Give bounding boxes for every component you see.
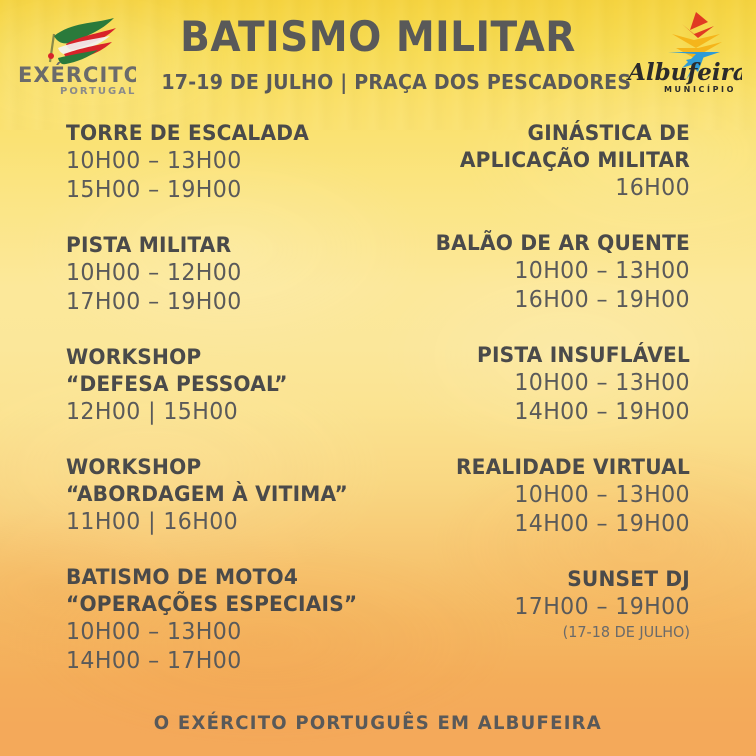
event-title: BATISMO MILITAR bbox=[166, 14, 590, 60]
event-name-line: BALÃO DE AR QUENTE bbox=[396, 230, 690, 257]
schedule-columns: TORRE DE ESCALADA 10H00 – 13H00 15H00 – … bbox=[0, 112, 756, 704]
event-name-line: “DEFESA PESSOAL” bbox=[66, 371, 360, 398]
schedule-column-left: TORRE DE ESCALADA 10H00 – 13H00 15H00 – … bbox=[66, 120, 378, 704]
exercito-portugal-logo: EXÉRCITO PORTUGAL bbox=[14, 12, 136, 98]
albufeira-subwordmark: MUNICÍPIO bbox=[664, 83, 736, 94]
event-subtitle: 17-19 DE JULHO | PRAÇA DOS PESCADORES bbox=[161, 70, 594, 94]
event-time-line: 16H00 – 19H00 bbox=[396, 286, 690, 315]
event-name-line: GINÁSTICA DE bbox=[396, 120, 690, 147]
event-name-line: PISTA MILITAR bbox=[66, 232, 360, 259]
poster-footer: O EXÉRCITO PORTUGUÊS EM ALBUFEIRA bbox=[0, 712, 756, 734]
event-name-line: TORRE DE ESCALADA bbox=[66, 120, 360, 147]
schedule-entry: SUNSET DJ 17H00 – 19H00 (17-18 DE JULHO) bbox=[384, 566, 690, 642]
event-name-line: WORKSHOP bbox=[66, 454, 360, 481]
schedule-entry: BATISMO DE MOTO4 “OPERAÇÕES ESPECIAIS” 1… bbox=[66, 564, 372, 676]
exercito-flag-icon bbox=[48, 18, 116, 64]
event-time-line: 14H00 – 17H00 bbox=[66, 647, 360, 676]
event-name-line: SUNSET DJ bbox=[396, 566, 690, 593]
event-time-line: 10H00 – 13H00 bbox=[66, 147, 360, 176]
event-time-line: 12H00 | 15H00 bbox=[66, 398, 360, 427]
albufeira-wordmark: Albufeira bbox=[626, 59, 742, 86]
event-name-line: PISTA INSUFLÁVEL bbox=[396, 342, 690, 369]
event-time-line: 17H00 – 19H00 bbox=[66, 288, 360, 317]
schedule-entry: WORKSHOP “DEFESA PESSOAL” 12H00 | 15H00 bbox=[66, 344, 372, 427]
event-note: (17-18 DE JULHO) bbox=[396, 622, 690, 642]
event-time-line: 16H00 bbox=[396, 174, 690, 203]
schedule-entry: WORKSHOP “ABORDAGEM À VITIMA” 11H00 | 16… bbox=[66, 454, 372, 537]
poster-canvas: EXÉRCITO PORTUGAL Albufeira MUNICÍPIO BA… bbox=[0, 0, 756, 756]
schedule-entry: GINÁSTICA DE APLICAÇÃO MILITAR 16H00 bbox=[384, 120, 690, 203]
schedule-entry: REALIDADE VIRTUAL 10H00 – 13H00 14H00 – … bbox=[384, 454, 690, 539]
schedule-column-right: GINÁSTICA DE APLICAÇÃO MILITAR 16H00 BAL… bbox=[378, 120, 690, 704]
footer-tagline: O EXÉRCITO PORTUGUÊS EM ALBUFEIRA bbox=[154, 712, 602, 734]
event-time-line: 10H00 – 13H00 bbox=[396, 257, 690, 286]
event-name-line: REALIDADE VIRTUAL bbox=[396, 454, 690, 481]
schedule-entry: PISTA MILITAR 10H00 – 12H00 17H00 – 19H0… bbox=[66, 232, 372, 317]
event-time-line: 14H00 – 19H00 bbox=[396, 510, 690, 539]
event-time-line: 14H00 – 19H00 bbox=[396, 398, 690, 427]
event-time-line: 10H00 – 13H00 bbox=[396, 481, 690, 510]
event-time-line: 17H00 – 19H00 bbox=[396, 593, 690, 622]
event-name-line: WORKSHOP bbox=[66, 344, 360, 371]
schedule-entry: PISTA INSUFLÁVEL 10H00 – 13H00 14H00 – 1… bbox=[384, 342, 690, 427]
event-time-line: 15H00 – 19H00 bbox=[66, 176, 360, 205]
exercito-subwordmark: PORTUGAL bbox=[60, 86, 136, 97]
albufeira-municipio-logo: Albufeira MUNICÍPIO bbox=[624, 8, 742, 96]
event-name-line: “ABORDAGEM À VITIMA” bbox=[66, 481, 360, 508]
event-time-line: 10H00 – 13H00 bbox=[396, 369, 690, 398]
event-time-line: 10H00 – 13H00 bbox=[66, 618, 360, 647]
event-time-line: 11H00 | 16H00 bbox=[66, 508, 360, 537]
schedule-entry: BALÃO DE AR QUENTE 10H00 – 13H00 16H00 –… bbox=[384, 230, 690, 315]
event-name-line: BATISMO DE MOTO4 bbox=[66, 564, 360, 591]
poster-header: EXÉRCITO PORTUGAL Albufeira MUNICÍPIO BA… bbox=[0, 0, 756, 112]
exercito-wordmark: EXÉRCITO bbox=[18, 62, 136, 87]
event-name-line: “OPERAÇÕES ESPECIAIS” bbox=[66, 591, 360, 618]
schedule-entry: TORRE DE ESCALADA 10H00 – 13H00 15H00 – … bbox=[66, 120, 372, 205]
event-time-line: 10H00 – 12H00 bbox=[66, 259, 360, 288]
title-block: BATISMO MILITAR 17-19 DE JULHO | PRAÇA D… bbox=[150, 14, 606, 94]
event-name-line: APLICAÇÃO MILITAR bbox=[396, 147, 690, 174]
